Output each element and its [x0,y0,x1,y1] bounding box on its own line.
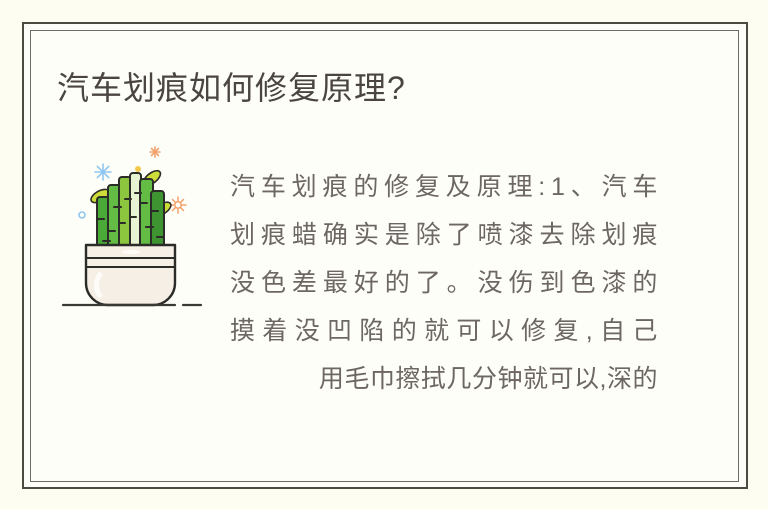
article-char: 几 [446,355,472,403]
pot-rim-shine [122,250,140,254]
article-char: 就 [424,307,450,355]
article-char: 车 [261,163,287,211]
article-char: 漆 [509,211,535,259]
yellow-dot-sparkle [135,166,141,172]
article-char: 拭 [421,355,447,403]
article-char: 用 [319,355,345,403]
article-char: 差 [292,259,318,307]
article-char: 就 [523,355,549,403]
article-char: 划 [601,211,627,259]
article-char: 没 [478,259,504,307]
article-char: 实 [354,211,380,259]
article-char: 好 [354,259,380,307]
article-body: 汽车划痕的修复及原理:1、汽车 划痕蜡确实是除了喷漆去除划痕 没色差最好的了。没… [230,163,658,403]
article-char: 色 [261,259,287,307]
article-char: 是 [385,211,411,259]
article-char: 汽 [602,163,628,211]
article-line: 汽车划痕的修复及原理:1、汽车 [230,163,658,211]
article-char: 毛 [344,355,370,403]
article-line: 用毛巾擦拭几分钟就可以,深的 [230,355,658,403]
article-char: 最 [323,259,349,307]
article-char: 、 [571,163,597,211]
article-char: 以 [574,355,600,403]
article-char: 划 [230,211,256,259]
article-char: 巾 [370,355,396,403]
article-char: 车 [632,163,658,211]
article-char: , [586,307,593,355]
orange-flower-sparkle [170,197,186,213]
article-char: 修 [521,307,547,355]
blue-dot-sparkle [79,212,85,218]
article-char: 可 [456,307,482,355]
article-char: 痕 [261,211,287,259]
article-char: 除 [416,211,442,259]
article-char: 自 [600,307,626,355]
orange-star-sparkle [150,147,160,157]
article-char: 理 [507,163,533,211]
article-char: 去 [540,211,566,259]
article-line: 没色差最好的了。没伤到色漆的 [230,259,658,307]
plant-pot [86,245,175,305]
article-char: 擦 [395,355,421,403]
article-char: 没 [230,259,256,307]
article-char: 己 [632,307,658,355]
article-line: 摸着没凹陷的就可以修复,自己 [230,307,658,355]
article-char: 复 [553,307,579,355]
article-char: 凹 [327,307,353,355]
article-char: 。 [447,259,473,307]
article-char: 汽 [230,163,256,211]
article-char: 修 [384,163,410,211]
article-char: 的 [632,355,658,403]
article-char: 确 [323,211,349,259]
article-char: 到 [540,259,566,307]
article-char: 的 [392,307,418,355]
article-char: 以 [489,307,515,355]
article-char: 伤 [509,259,535,307]
article-char: 1 [551,163,565,211]
blue-snowflake-sparkle [95,164,111,180]
article-char: 的 [385,259,411,307]
article-char: 没 [295,307,321,355]
article-char: 色 [570,259,596,307]
article-char: 复 [415,163,441,211]
article-char: 痕 [632,211,658,259]
article-char: 深 [607,355,633,403]
page-root: 汽车划痕如何修复原理? [0,0,768,510]
article-char: 了 [416,259,442,307]
article-char: 原 [477,163,503,211]
article-char: : [538,163,545,211]
article-char: 摸 [230,307,256,355]
bamboo-plant-illustration [55,145,215,315]
article-char: 蜡 [292,211,318,259]
article-char: 的 [632,259,658,307]
article-char: 漆 [601,259,627,307]
article-char: 可 [548,355,574,403]
article-char: 陷 [359,307,385,355]
article-char: 了 [447,211,473,259]
article-char: 的 [353,163,379,211]
article-char: 喷 [478,211,504,259]
article-char: 划 [292,163,318,211]
article-char: 钟 [497,355,523,403]
article-char: , [600,355,607,403]
article-char: 及 [446,163,472,211]
article-line: 划痕蜡确实是除了喷漆去除划痕 [230,211,658,259]
article-char: 除 [570,211,596,259]
article-char: 分 [472,355,498,403]
article-char: 痕 [322,163,348,211]
page-title: 汽车划痕如何修复原理? [57,68,406,108]
article-char: 着 [262,307,288,355]
